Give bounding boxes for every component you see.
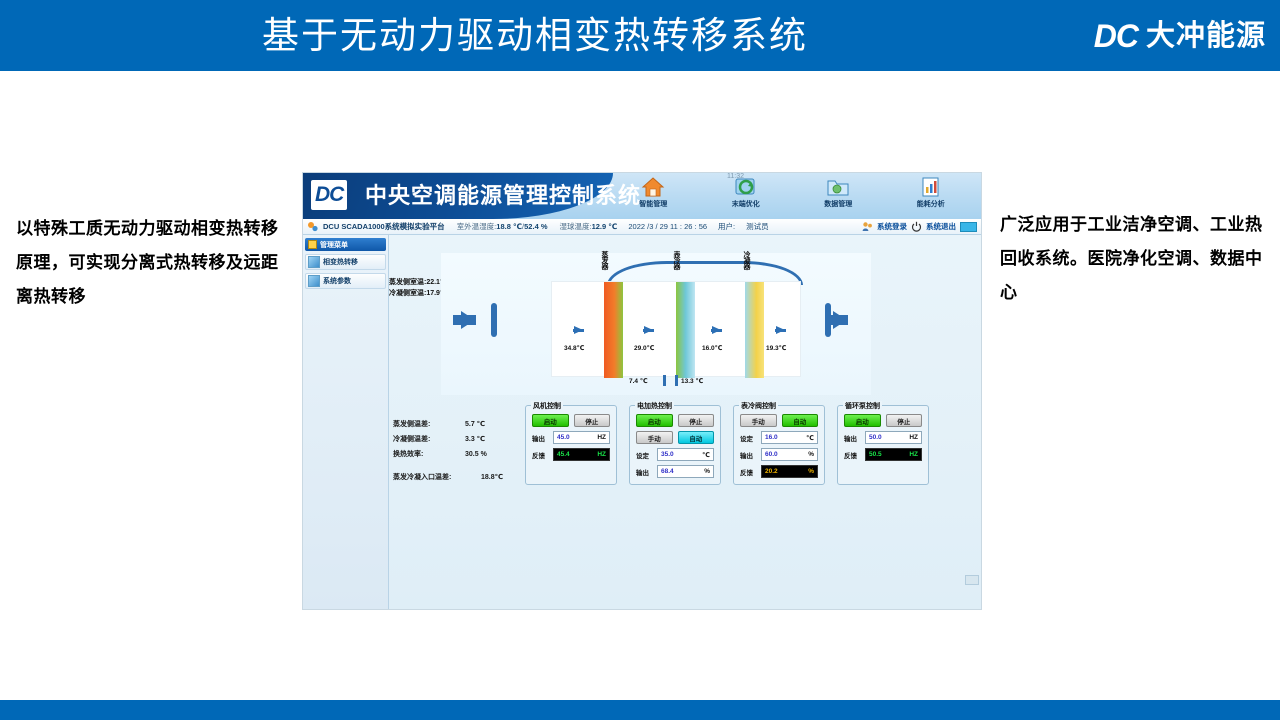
outdoor-readout: 室外温湿度:18.8 ℃/52.4 % <box>457 221 548 232</box>
evaporator-room-temp: 蒸发侧室温:22.1℃ <box>389 277 448 288</box>
sidebar-item-label: 相变热转移 <box>323 257 358 267</box>
home-icon <box>641 176 665 198</box>
readout-value: 5.7 ℃ <box>465 417 485 432</box>
folder-data-icon <box>826 176 850 198</box>
field-value: 35.0 <box>661 451 674 458</box>
field-label: 输出 <box>532 433 550 443</box>
heater-start-button[interactable]: 启动 <box>636 414 673 427</box>
field-unit: % <box>808 451 814 458</box>
panel-electric-heating-control: 电加热控制 启动 停止 手动 自动 设定 35.0 <box>629 405 721 485</box>
flow-arrow <box>712 326 721 334</box>
flow-arrow <box>776 326 785 334</box>
caption-right: 广泛应用于工业洁净空调、工业热回收系统。医院净化空调、数据中心 <box>1000 208 1275 310</box>
field-unit: HZ <box>909 451 918 458</box>
parameters-icon <box>308 275 320 287</box>
field-label: 输出 <box>636 467 654 477</box>
field-label: 反馈 <box>532 450 550 460</box>
field-row: 输出 45.0 HZ <box>532 431 610 444</box>
inlet-fin <box>491 303 497 337</box>
toolbar-item-data-management[interactable]: 数据管理 <box>795 175 881 209</box>
system-logout-link[interactable]: 系统退出 <box>926 221 956 232</box>
wetbulb-value: 12.9 ℃ <box>592 222 618 231</box>
toolbar-item-terminal-optimization[interactable]: 末端优化 <box>703 175 789 209</box>
panel-button-row: 手动 自动 <box>740 414 818 427</box>
fan-start-button[interactable]: 启动 <box>532 414 569 427</box>
field-row: 设定 16.0 ℃ <box>740 431 818 444</box>
wetbulb-label: 湿球温度: <box>560 222 592 231</box>
field-value: 68.4 <box>661 468 674 475</box>
toolbar-item-energy-analysis[interactable]: 能耗分析 <box>888 175 974 209</box>
outdoor-label: 室外温湿度: <box>457 222 497 231</box>
evaporator-coil <box>604 282 623 378</box>
field-label: 设定 <box>740 433 758 443</box>
field-row: 设定 35.0 ℃ <box>636 448 714 461</box>
fan-feedback-field: 45.4 HZ <box>553 448 610 461</box>
panel-title: 电加热控制 <box>635 401 674 411</box>
toolbar-label: 能耗分析 <box>888 199 974 209</box>
valve-setpoint-field[interactable]: 16.0 ℃ <box>761 431 818 444</box>
scada-canvas: 蒸发侧室温:22.1℃ 冷凝侧室温:17.9℃ 蒸发器 表冷器 冷凝器 <box>389 235 981 609</box>
pump-output-field[interactable]: 50.0 HZ <box>865 431 922 444</box>
scada-body: 管理菜单 相变热转移 系统参数 蒸发侧室温:22.1℃ 冷凝侧室温:17.9℃ <box>303 235 981 609</box>
platform-icon <box>307 221 318 232</box>
sidebar-item-system-parameters[interactable]: 系统参数 <box>305 273 386 289</box>
scada-app-banner: DC 中央空调能源管理控制系统 11:32 智能管理 <box>303 173 981 219</box>
logo-company-text: 大冲能源 <box>1146 22 1266 51</box>
bottom-temp-1: 7.4 ℃ <box>629 377 648 385</box>
scada-sidebar: 管理菜单 相变热转移 系统参数 <box>303 235 389 609</box>
menu-icon <box>308 240 317 249</box>
logo-dc-text: DC <box>1094 20 1138 52</box>
readout-row: 蒸发冷凝入口温差: 18.8℃ <box>393 470 523 485</box>
field-value: 20.2 <box>765 468 778 475</box>
control-panels: 风机控制 启动 停止 输出 45.0 HZ <box>525 405 929 485</box>
outdoor-rh: 52.4 % <box>524 222 547 231</box>
slide-header: 基于无动力驱动相变热转移系统 DC 大冲能源 <box>0 0 1280 71</box>
room-temperature-readouts: 蒸发侧室温:22.1℃ 冷凝侧室温:17.9℃ <box>389 277 448 299</box>
field-value: 50.0 <box>869 434 882 441</box>
field-row: 输出 50.0 HZ <box>844 431 922 444</box>
condenser-room-temp: 冷凝侧室温:17.9℃ <box>389 288 448 299</box>
air-outlet-arrow <box>833 311 847 329</box>
fan-output-field[interactable]: 45.0 HZ <box>553 431 610 444</box>
bottom-bar-up <box>663 375 666 386</box>
panel-title: 循环泵控制 <box>843 401 882 411</box>
status-indicator-badge <box>960 222 977 232</box>
panel-button-row: 启动 停止 <box>636 414 714 427</box>
user-label: 用户: <box>718 221 735 232</box>
bottom-temp-2: 13.3 ℃ <box>681 377 703 385</box>
scada-toolbar: 智能管理 末端优化 <box>607 175 977 219</box>
user-name: 测试员 <box>746 221 769 232</box>
stage-temp-4: 19.3℃ <box>766 344 787 352</box>
panel-title: 风机控制 <box>531 401 563 411</box>
platform-name: DCU SCADA1000系统模拟实验平台 <box>323 221 445 232</box>
readout-value: 18.8℃ <box>481 470 503 485</box>
user-login-icon <box>862 221 873 232</box>
sidebar-menu-title: 管理菜单 <box>320 240 348 250</box>
field-unit: ℃ <box>702 451 710 459</box>
stage-temp-2: 29.0℃ <box>634 344 655 352</box>
valve-manual-button[interactable]: 手动 <box>740 414 777 427</box>
field-value: 50.5 <box>869 451 882 458</box>
surface-cooler-coil <box>676 282 695 378</box>
outlet-fin <box>825 303 831 337</box>
field-row: 反馈 50.5 HZ <box>844 448 922 461</box>
page-title: 基于无动力驱动相变热转移系统 <box>0 0 1070 71</box>
readout-spacer <box>393 462 523 470</box>
field-row: 反馈 45.4 HZ <box>532 448 610 461</box>
sidebar-item-label: 系统参数 <box>323 276 351 286</box>
report-chart-icon <box>919 176 943 198</box>
field-unit: ℃ <box>806 434 814 442</box>
refresh-terminal-icon <box>734 176 758 198</box>
valve-feedback-field: 20.2 % <box>761 465 818 478</box>
duct-chamber: 34.8℃ 29.0℃ 16.0℃ 19.3℃ <box>551 281 801 377</box>
flow-arrow <box>574 326 583 334</box>
field-unit: % <box>704 468 710 475</box>
pump-stop-button[interactable]: 停止 <box>886 414 923 427</box>
fan-stop-button[interactable]: 停止 <box>574 414 611 427</box>
diagram-icon <box>308 256 320 268</box>
pump-start-button[interactable]: 启动 <box>844 414 881 427</box>
field-unit: % <box>808 468 814 475</box>
readout-key: 换热效率: <box>393 447 465 462</box>
readout-row: 蒸发侧温差: 5.7 ℃ <box>393 417 523 432</box>
sidebar-menu-header: 管理菜单 <box>305 238 386 251</box>
panel-circulation-pump-control: 循环泵控制 启动 停止 输出 50.0 HZ <box>837 405 929 485</box>
air-inlet-arrow <box>461 311 475 329</box>
heater-stop-button[interactable]: 停止 <box>678 414 715 427</box>
panel-surface-cooler-valve-control: 表冷阀控制 手动 自动 设定 16.0 ℃ <box>733 405 825 485</box>
statusbar-actions: 系统登录 系统退出 <box>862 221 981 232</box>
field-label: 反馈 <box>844 450 862 460</box>
field-label: 反馈 <box>740 467 758 477</box>
scada-app-title: 中央空调能源管理控制系统 <box>365 181 641 211</box>
scada-screenshot: DC 中央空调能源管理控制系统 11:32 智能管理 <box>302 172 982 610</box>
power-icon <box>911 221 922 232</box>
field-unit: HZ <box>597 434 606 441</box>
performance-readouts: 蒸发侧温差: 5.7 ℃ 冷凝侧温差: 3.3 ℃ 换热效率: 30.5 % 蒸… <box>393 417 523 485</box>
field-label: 输出 <box>844 433 862 443</box>
slide-footer <box>0 700 1280 720</box>
brand-logo: DC 大冲能源 <box>1094 14 1266 58</box>
field-label: 输出 <box>740 450 758 460</box>
readout-key: 蒸发侧温差: <box>393 417 465 432</box>
readout-key: 冷凝侧温差: <box>393 432 465 447</box>
pump-feedback-field: 50.5 HZ <box>865 448 922 461</box>
process-diagram: 蒸发器 表冷器 冷凝器 34.8℃ <box>441 253 871 395</box>
panel-button-row: 手动 自动 <box>636 431 714 444</box>
field-value: 60.0 <box>765 451 778 458</box>
toolbar-label: 末端优化 <box>703 199 789 209</box>
heater-manual-button[interactable]: 手动 <box>636 431 673 444</box>
caption-left: 以特殊工质无动力驱动相变热转移原理，可实现分离式热转移及远距离热转移 <box>16 212 286 314</box>
readout-row: 换热效率: 30.5 % <box>393 447 523 462</box>
heater-output-field[interactable]: 68.4 % <box>657 465 714 478</box>
field-row: 输出 60.0 % <box>740 448 818 461</box>
surface-cooler-label: 表冷器 <box>673 251 680 269</box>
readout-value: 30.5 % <box>465 447 487 462</box>
field-value: 16.0 <box>765 434 778 441</box>
field-unit: HZ <box>597 451 606 458</box>
field-row: 反馈 20.2 % <box>740 465 818 478</box>
toolbar-item-smart-management[interactable]: 智能管理 <box>610 175 696 209</box>
field-value: 45.4 <box>557 451 570 458</box>
field-unit: HZ <box>909 434 918 441</box>
datetime-display: 2022 /3 / 29 11 : 26 : 56 <box>628 222 707 231</box>
toolbar-label: 智能管理 <box>610 199 696 209</box>
slide-root: 基于无动力驱动相变热转移系统 DC 大冲能源 以特殊工质无动力驱动相变热转移原理… <box>0 0 1280 720</box>
valve-output-field[interactable]: 60.0 % <box>761 448 818 461</box>
scada-status-bar: DCU SCADA1000系统模拟实验平台 室外温湿度:18.8 ℃/52.4 … <box>303 219 981 235</box>
field-value: 45.0 <box>557 434 570 441</box>
outdoor-temp: 18.8 ℃ <box>496 222 522 231</box>
system-login-link[interactable]: 系统登录 <box>877 221 907 232</box>
sidebar-item-phase-change-heat-transfer[interactable]: 相变热转移 <box>305 254 386 270</box>
field-label: 设定 <box>636 450 654 460</box>
field-row: 输出 68.4 % <box>636 465 714 478</box>
scroll-handle[interactable] <box>965 575 979 585</box>
heater-setpoint-field[interactable]: 35.0 ℃ <box>657 448 714 461</box>
wetbulb-readout: 湿球温度:12.9 ℃ <box>560 221 618 232</box>
scada-logo: DC <box>311 180 347 210</box>
evaporator-label: 蒸发器 <box>601 251 608 269</box>
panel-button-row: 启动 停止 <box>532 414 610 427</box>
panel-fan-control: 风机控制 启动 停止 输出 45.0 HZ <box>525 405 617 485</box>
condenser-coil <box>745 282 764 378</box>
readout-value: 3.3 ℃ <box>465 432 485 447</box>
toolbar-label: 数据管理 <box>795 199 881 209</box>
stage-temp-1: 34.8℃ <box>564 344 585 352</box>
readout-row: 冷凝侧温差: 3.3 ℃ <box>393 432 523 447</box>
condenser-label: 冷凝器 <box>743 251 750 269</box>
readout-key: 蒸发冷凝入口温差: <box>393 470 481 485</box>
panel-button-row: 启动 停止 <box>844 414 922 427</box>
panel-title: 表冷阀控制 <box>739 401 778 411</box>
heater-auto-button[interactable]: 自动 <box>678 431 715 444</box>
flow-arrow <box>644 326 653 334</box>
stage-temp-3: 16.0℃ <box>702 344 723 352</box>
valve-auto-button[interactable]: 自动 <box>782 414 819 427</box>
bottom-bar-down <box>675 375 678 386</box>
